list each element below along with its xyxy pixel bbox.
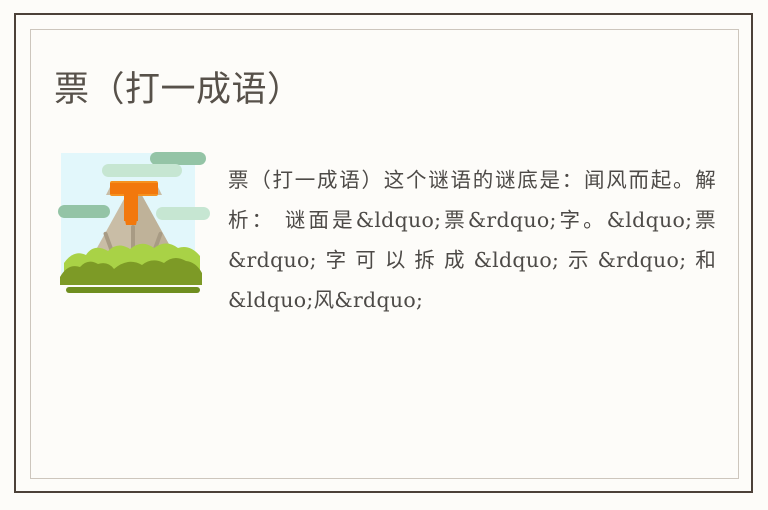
page-canvas: 票（打一成语）	[0, 0, 768, 510]
article-body: 票（打一成语）这个谜语的谜底是：闻风而起。解析： 谜面是&ldquo;票&rdq…	[54, 139, 716, 340]
volcano-icon	[58, 145, 210, 300]
volcano-illustration	[58, 145, 210, 300]
page-title: 票（打一成语）	[54, 69, 303, 111]
page-content: 票（打一成语）	[30, 29, 739, 479]
